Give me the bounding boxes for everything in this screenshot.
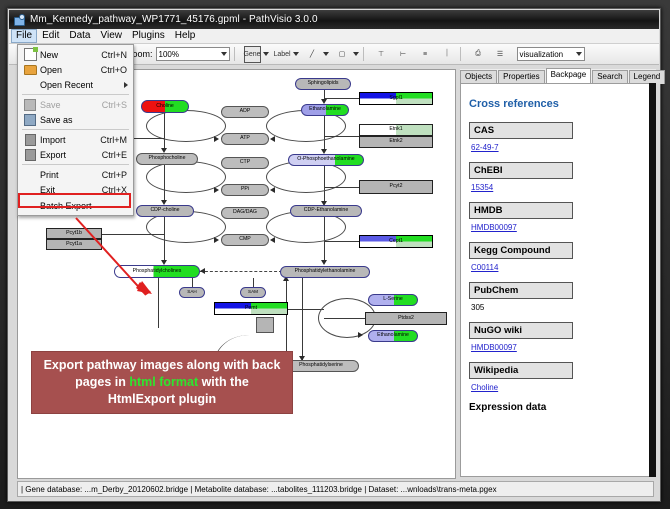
callout-highlight: html format (129, 375, 198, 389)
menu-bar: File Edit Data View Plugins Help (9, 29, 659, 44)
menu-edit[interactable]: Edit (37, 29, 64, 43)
gene-tool-button[interactable]: Gene (244, 46, 261, 63)
side-panel-scrollbar[interactable] (649, 83, 656, 477)
xref-value-pubchem: 305 (471, 303, 655, 312)
tab-search[interactable]: Search (592, 70, 627, 84)
menu-data[interactable]: Data (64, 29, 95, 43)
xref-db-hmdb: HMDB (469, 202, 573, 219)
new-document-icon (20, 48, 40, 61)
menu-help[interactable]: Help (170, 29, 201, 43)
menu-file[interactable]: File (11, 29, 37, 43)
xref-value-wikipedia[interactable]: Choline (471, 383, 655, 392)
align-left-icon[interactable]: ⊢ (395, 46, 412, 63)
toolbar-separator (234, 47, 235, 61)
annotation-arrow (18, 70, 455, 478)
xref-value-nugo[interactable]: HMDB00097 (471, 343, 655, 352)
xref-db-wikipedia: Wikipedia (469, 362, 573, 379)
callout-line-2: pages in html format with the (75, 374, 249, 391)
zoom-value: 100% (159, 50, 179, 59)
window-title: Mm_Kennedy_pathway_WP1771_45176.gpml - P… (30, 14, 318, 25)
toolbar-separator-3 (460, 47, 461, 61)
gene-tool-chevron-icon[interactable] (263, 52, 269, 56)
toggle-sidebar-icon[interactable]: ☰ (492, 46, 509, 63)
callout-line-3: HtmlExport plugin (108, 391, 216, 408)
menu-view[interactable]: View (95, 29, 127, 43)
distribute-icon[interactable]: ⏐ (439, 46, 456, 63)
xref-db-chebi: ChEBI (469, 162, 573, 179)
tab-objects[interactable]: Objects (460, 70, 497, 84)
visualization-value: visualization (520, 50, 564, 59)
xref-db-kegg: Kegg Compound (469, 242, 573, 259)
xref-value-cas[interactable]: 62-49-7 (471, 143, 655, 152)
label-tool-button[interactable]: Label (274, 46, 291, 63)
application-window: Mm_Kennedy_pathway_WP1771_45176.gpml - P… (7, 8, 661, 502)
tab-legend[interactable]: Legend (629, 70, 666, 84)
shape-tool-button[interactable]: ▢ (334, 46, 351, 63)
callout-line-2a: pages in (75, 375, 129, 389)
xref-value-hmdb[interactable]: HMDB00097 (471, 223, 655, 232)
xref-value-kegg[interactable]: C00114 (471, 263, 655, 272)
label-tool-chevron-icon[interactable] (293, 52, 299, 56)
title-bar: Mm_Kennedy_pathway_WP1771_45176.gpml - P… (9, 10, 659, 29)
tab-properties[interactable]: Properties (498, 70, 544, 84)
desktop-background: Mm_Kennedy_pathway_WP1771_45176.gpml - P… (0, 0, 670, 509)
callout-line-2b: with the (198, 375, 249, 389)
stack-icon[interactable]: ≡ (417, 46, 434, 63)
callout-line-1: Export pathway images along with back (44, 357, 281, 374)
xref-db-nugo: NuGO wiki (469, 322, 573, 339)
menu-plugins[interactable]: Plugins (127, 29, 170, 43)
pathway-diagram: Choline Sphingolipids ADP Ethanolamine A… (18, 70, 455, 478)
chevron-down-icon-2 (576, 52, 582, 56)
annotation-callout: Export pathway images along with back pa… (31, 351, 293, 414)
backpage-content: Cross references CAS 62-49-7 ChEBI 15354… (460, 83, 656, 477)
xref-value-chebi[interactable]: 15354 (471, 183, 655, 192)
xref-db-pubchem: PubChem (469, 282, 573, 299)
tab-backpage[interactable]: Backpage (546, 68, 592, 84)
line-tool-chevron-icon[interactable] (323, 52, 329, 56)
menu-item-new[interactable]: New Ctrl+N (18, 47, 133, 62)
expression-data-heading: Expression data (469, 402, 655, 413)
xref-db-cas: CAS (469, 122, 573, 139)
pathway-canvas[interactable]: Choline Sphingolipids ADP Ethanolamine A… (17, 69, 456, 479)
zoom-combobox[interactable]: 100% (156, 47, 230, 61)
pathvisio-icon (13, 14, 25, 26)
print-icon[interactable]: ⎙ (470, 46, 487, 63)
toolbar-separator-2 (363, 47, 364, 61)
chevron-down-icon (221, 52, 227, 56)
cross-references-heading: Cross references (469, 98, 655, 110)
status-bar: | Gene database: ...m_Derby_20120602.bri… (17, 481, 654, 497)
shape-tool-chevron-icon[interactable] (353, 52, 359, 56)
visualization-combobox[interactable]: visualization (517, 47, 585, 61)
status-bar-text: | Gene database: ...m_Derby_20120602.bri… (21, 485, 497, 494)
side-panel-tabs: Objects Properties Backpage Search Legen… (460, 69, 656, 84)
line-tool-button[interactable]: ╱ (304, 46, 321, 63)
side-panel: Objects Properties Backpage Search Legen… (460, 69, 656, 477)
align-top-icon[interactable]: ⊤ (373, 46, 390, 63)
